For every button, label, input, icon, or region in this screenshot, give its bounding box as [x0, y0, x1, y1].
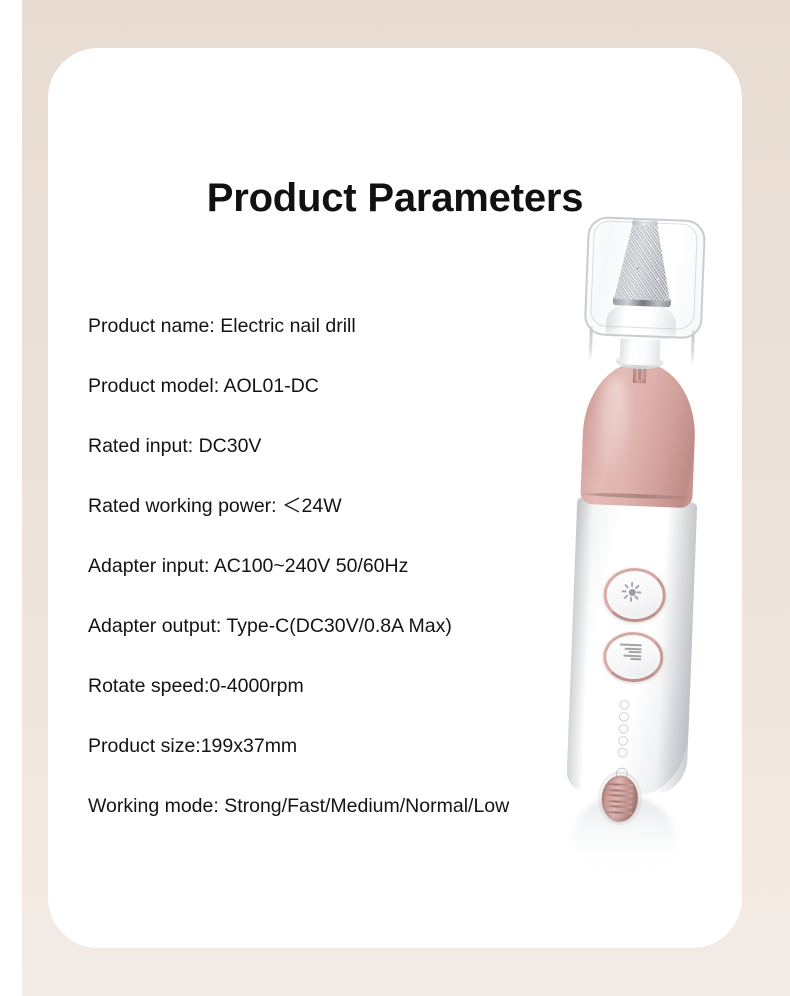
slider-ridge [606, 811, 632, 814]
product-parameters-page: Product Parameters Product name: Electri… [0, 0, 790, 996]
sun-ray [624, 595, 628, 599]
slider-ridge [607, 805, 633, 808]
sun-core [628, 588, 635, 595]
speed-bar [630, 658, 641, 660]
electric-nail-drill-device [526, 197, 753, 904]
protective-cap-inner-edge [590, 220, 698, 330]
slider-ridge [607, 794, 633, 797]
speed-bar [620, 643, 642, 646]
product-image [530, 200, 730, 900]
sun-ray [631, 582, 633, 587]
sun-ray [637, 591, 642, 593]
slider-ridge [607, 800, 633, 803]
speed-bar [628, 651, 641, 653]
sun-ray [635, 585, 639, 589]
sun-ray [635, 595, 639, 599]
sun-icon [621, 583, 642, 602]
slider-ridge [607, 783, 633, 786]
sun-ray [624, 584, 628, 588]
sun-ray [622, 591, 627, 593]
speed-bar [625, 647, 642, 650]
slider-ridge [607, 789, 633, 792]
speed-levels-icon [617, 643, 642, 662]
speed-bar [623, 654, 641, 657]
